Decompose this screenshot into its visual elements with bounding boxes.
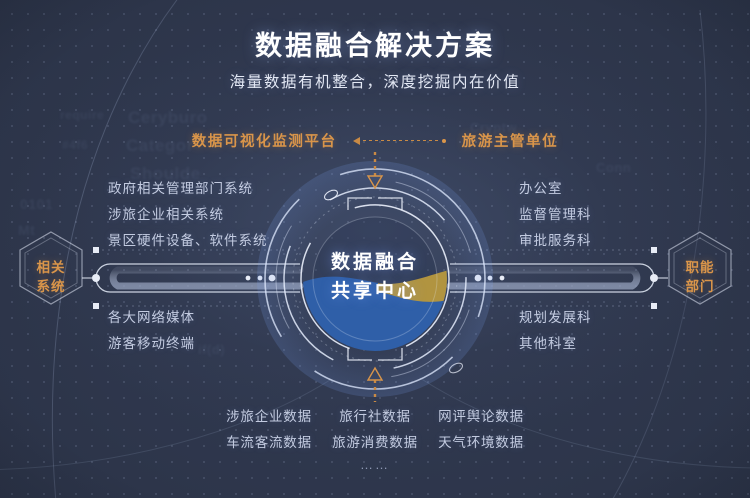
right-badge-text-line1: 职能: [668, 258, 732, 277]
right-depts-top-list: 办公室 监督管理科 审批服务科: [519, 176, 592, 254]
left-systems-bottom-list: 各大网络媒体 游客移动终端: [108, 305, 195, 357]
list-item: 各大网络媒体: [108, 305, 195, 331]
table-row: 车流客流数据 旅游消费数据 天气环境数据: [216, 430, 534, 456]
data-cell: 旅行社数据: [322, 404, 428, 430]
core-line-2: 共享中心: [285, 277, 465, 306]
list-item: 游客移动终端: [108, 331, 195, 357]
right-depts-bottom-list: 规划发展科 其他科室: [519, 305, 592, 357]
left-badge-text-line1: 相关: [19, 258, 83, 277]
data-cell: 天气环境数据: [428, 430, 534, 456]
left-badge-text: 相关 系统: [19, 258, 83, 296]
list-item: 办公室: [519, 176, 563, 202]
right-badge-text: 职能 部门: [668, 258, 732, 296]
right-badge-text-line2: 部门: [668, 277, 732, 296]
bottom-data-grid: 涉旅企业数据 旅行社数据 网评舆论数据 车流客流数据 旅游消费数据 天气环境数据…: [0, 404, 750, 472]
list-item: 审批服务科: [519, 228, 592, 254]
infographic-canvas: Ceryburo Categor Shoulde require #4f6 01…: [0, 0, 750, 498]
left-systems-top-list: 政府相关管理部门系统 涉旅企业相关系统 景区硬件设备、软件系统: [108, 176, 268, 254]
list-item: 政府相关管理部门系统: [108, 176, 253, 202]
data-cell: 网评舆论数据: [428, 404, 534, 430]
core-line-1: 数据融合: [285, 248, 465, 277]
list-item: 其他科室: [519, 331, 577, 357]
list-item: 规划发展科: [519, 305, 592, 331]
more-data-ellipsis: ……: [360, 457, 390, 472]
left-badge-text-line2: 系统: [19, 277, 83, 296]
list-item: 涉旅企业相关系统: [108, 202, 224, 228]
table-row: 涉旅企业数据 旅行社数据 网评舆论数据: [216, 404, 534, 430]
core-label: 数据融合 共享中心: [285, 248, 465, 306]
list-item: 景区硬件设备、软件系统: [108, 228, 268, 254]
list-item: 监督管理科: [519, 202, 592, 228]
data-cell: 旅游消费数据: [322, 430, 428, 456]
data-cell: 涉旅企业数据: [216, 404, 322, 430]
data-cell: 车流客流数据: [216, 430, 322, 456]
